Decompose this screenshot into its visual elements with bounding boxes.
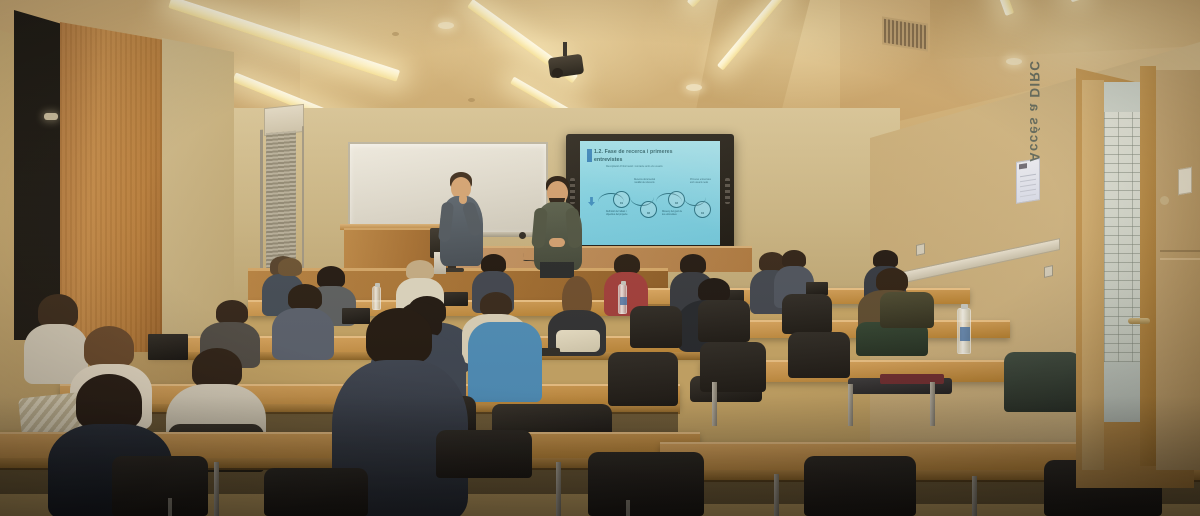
desk-leg	[972, 476, 977, 516]
student	[468, 322, 542, 402]
chair-leg	[168, 498, 172, 516]
door-leaf[interactable]	[1082, 80, 1104, 470]
door-handle-icon[interactable]	[1128, 318, 1150, 324]
student	[272, 284, 334, 354]
presentation-screen: 1.2. Fase de recerca i primeres entrevis…	[580, 141, 720, 245]
chair	[700, 342, 766, 392]
microphone-head-icon	[519, 232, 526, 239]
corridor-brick-wall	[1104, 112, 1140, 362]
flow-label: Disseny del guió de les entrevistes	[662, 211, 684, 218]
chair	[698, 300, 750, 342]
flow-node-marker: 02	[641, 212, 656, 215]
flow-label: Primeres entrevistes amb usuaris reals	[690, 179, 712, 186]
wall-display[interactable]: 1.2. Fase de recerca i primeres entrevis…	[566, 134, 734, 252]
slide-title: 1.2. Fase de recerca i primeres entrevis…	[594, 149, 690, 164]
flow-label: Definició de l'abast i objectius del pro…	[606, 211, 628, 218]
arm	[565, 208, 581, 249]
empty-chair[interactable]	[588, 452, 704, 516]
door-access-sign: Accés a DIRC	[1026, 0, 1042, 162]
water-bottle	[618, 284, 627, 314]
hand	[459, 194, 467, 204]
download-icon	[588, 197, 595, 206]
flow-node: 04	[694, 201, 711, 218]
door-post	[1140, 66, 1156, 466]
chair	[788, 332, 850, 378]
clasped-hands	[549, 238, 565, 247]
chair	[608, 352, 678, 406]
flow-node-marker: 04	[695, 212, 710, 215]
flow-label: Recerca documental i anàlisi de referent…	[634, 179, 656, 186]
desk-leg	[712, 382, 717, 426]
wall-notice	[1016, 158, 1040, 204]
chair	[782, 294, 832, 334]
ceiling-fixture-dot	[392, 32, 399, 36]
flow-node-marker: 03	[669, 202, 684, 205]
corridor-lamp-icon	[44, 113, 58, 120]
slide-process-diagram: 01 Definició de l'abast i objectius del …	[584, 175, 716, 237]
desk-leg	[848, 384, 853, 426]
door-knob-icon[interactable]	[1160, 196, 1169, 205]
ceiling-spotlight	[686, 84, 702, 91]
door-sign-plate	[1178, 167, 1192, 195]
cloth-item	[556, 330, 600, 352]
water-bottle	[957, 308, 971, 354]
right-wall-recess	[1156, 70, 1200, 470]
chair-with-coat	[1004, 352, 1080, 412]
wall-panel-line	[1160, 250, 1200, 252]
desk-leg	[774, 474, 779, 516]
chair	[630, 306, 682, 348]
desk-leg	[556, 462, 561, 516]
presenter-left	[438, 172, 484, 264]
wall-panel-line	[1160, 258, 1200, 260]
ceiling-spotlight	[1006, 58, 1022, 65]
speaker-grille-icon	[725, 178, 730, 204]
chair-leg	[626, 500, 630, 516]
flow-node-marker: 01	[614, 202, 629, 205]
flow-node: 01	[613, 191, 630, 208]
left-doorway[interactable]	[14, 10, 62, 340]
empty-chair[interactable]	[112, 456, 208, 516]
slide-subtitle: Recopilació d'informació i contacte amb …	[606, 165, 698, 169]
presenter-right	[532, 176, 584, 270]
flow-node: 02	[640, 201, 657, 218]
phone	[540, 348, 560, 356]
wall-outlet[interactable]	[916, 243, 925, 256]
projector-icon	[547, 52, 583, 82]
lecture-hall-photo: 1.2. Fase de recerca i primeres entrevis…	[0, 0, 1200, 516]
empty-chair[interactable]	[264, 468, 368, 516]
ceiling-spotlight	[438, 22, 454, 29]
wall-outlet[interactable]	[1044, 265, 1053, 278]
empty-chair[interactable]	[804, 456, 916, 516]
desk-leg	[214, 462, 219, 516]
ceiling-fixture-dot	[468, 98, 475, 102]
empty-chair[interactable]	[436, 430, 532, 478]
door-glass-panel	[1104, 82, 1140, 422]
slide-accent-bar	[587, 149, 592, 162]
chair	[880, 292, 934, 328]
flow-node: 03	[668, 191, 685, 208]
desk-leg	[930, 382, 935, 426]
